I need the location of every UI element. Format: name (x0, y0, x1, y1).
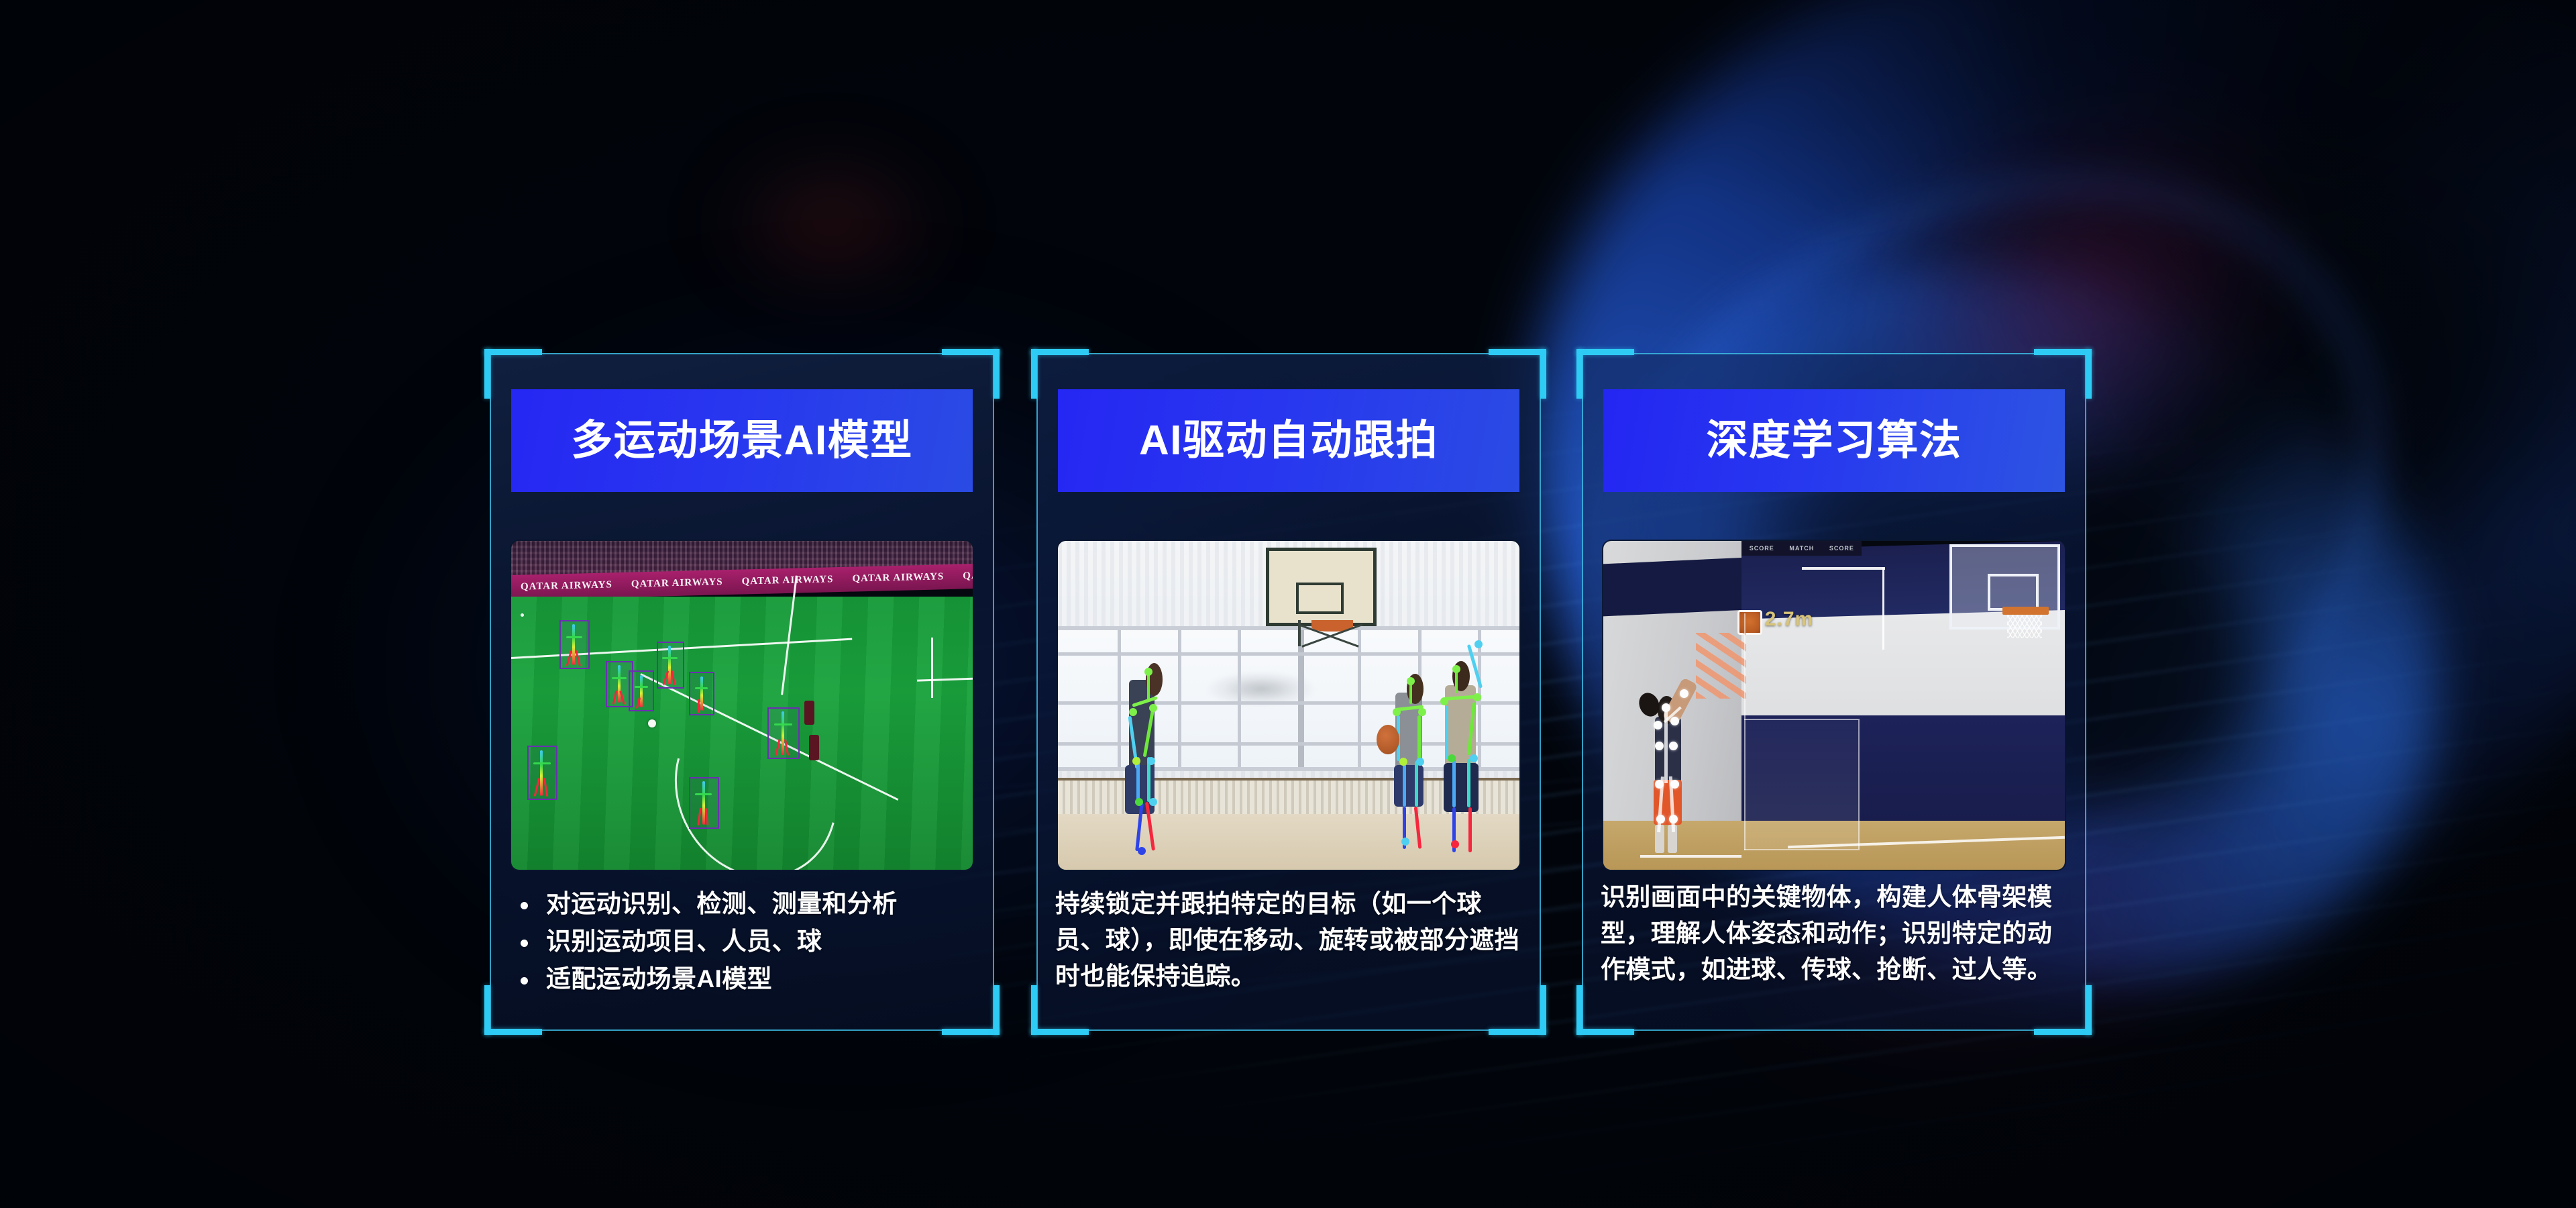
measure-label: 2.7m (1765, 608, 1813, 631)
measure-line-top (1802, 567, 1885, 570)
tracked-ball-box (1737, 610, 1763, 635)
card-copy-ai-auto-tracking: 持续锁定并跟拍特定的目标（如一个球员、球），即使在移动、旋转或被部分遮挡时也能保… (1055, 886, 1526, 995)
list-item: 对运动识别、检测、测量和分析 (511, 886, 975, 922)
ball-marker (648, 719, 656, 727)
card-media-basketball-measurement: SCORE MATCH SCORE 2.7m (1603, 541, 2065, 870)
detection-box (689, 672, 714, 715)
card-title-deep-learning-algorithm: 深度学习算法 (1603, 389, 2065, 492)
feature-card-row: 多运动场景AI模型 QATAR AIRWAYS QATAR AIRWAYS QA… (0, 0, 2576, 1208)
detection-box (767, 707, 800, 759)
pitch-surface (511, 597, 973, 870)
paragraph-text: 持续锁定并跟拍特定的目标（如一个球员、球），即使在移动、旋转或被部分遮挡时也能保… (1055, 886, 1526, 995)
measurement-plane (1744, 719, 1860, 850)
card-title-multi-sport-ai-model: 多运动场景AI模型 (511, 389, 973, 492)
card-media-gym-pose-skeleton (1058, 541, 1519, 870)
basketball-backboard (1949, 544, 2060, 630)
basketball-backboard (1266, 548, 1377, 627)
tracked-shooter (1635, 686, 1700, 860)
scoreboard-label-match: MATCH (1789, 545, 1814, 552)
tracked-player-left (1114, 659, 1178, 863)
basketball-net (2007, 615, 2042, 638)
card-media-soccer-detection: QATAR AIRWAYS QATAR AIRWAYS QATAR AIRWAY… (511, 541, 973, 870)
tracked-player-right (1427, 653, 1501, 857)
bullet-list: 对运动识别、检测、测量和分析 识别运动项目、人员、球 适配运动场景AI模型 (511, 886, 975, 997)
feature-card-multi-sport-ai-model[interactable]: 多运动场景AI模型 QATAR AIRWAYS QATAR AIRWAYS QA… (484, 349, 1000, 1035)
detection-box (657, 642, 684, 688)
list-item: 识别运动项目、人员、球 (511, 923, 975, 960)
list-item: 适配运动场景AI模型 (511, 961, 975, 997)
detection-box (527, 746, 557, 800)
measure-line-vertical (1882, 567, 1884, 650)
basketball-rim (2002, 607, 2049, 615)
card-title-ai-auto-tracking: AI驱动自动跟拍 (1058, 389, 1519, 492)
slide-stage: 多运动场景AI模型 QATAR AIRWAYS QATAR AIRWAYS QA… (0, 0, 2576, 1208)
detection-box (689, 777, 719, 829)
feature-card-ai-auto-tracking[interactable]: AI驱动自动跟拍 (1031, 349, 1546, 1035)
scoreboard-label-score-right: SCORE (1829, 545, 1854, 552)
ball-trajectory (1696, 633, 1747, 699)
paragraph-text: 识别画面中的关键物体，构建人体骨架模型，理解人体姿态和动作；识别特定的动作模式，… (1601, 879, 2074, 988)
detection-box (559, 620, 590, 669)
detection-box (629, 670, 654, 711)
card-copy-deep-learning-algorithm: 识别画面中的关键物体，构建人体骨架模型，理解人体姿态和动作；识别特定的动作模式，… (1601, 879, 2074, 988)
scoreboard-label-score-left: SCORE (1750, 545, 1774, 552)
scoreboard: SCORE MATCH SCORE (1741, 541, 1862, 556)
card-copy-multi-sport-ai-model: 对运动识别、检测、测量和分析 识别运动项目、人员、球 适配运动场景AI模型 (511, 886, 975, 999)
feature-card-deep-learning-algorithm[interactable]: 深度学习算法 SCORE MATCH SCORE (1576, 349, 2092, 1035)
